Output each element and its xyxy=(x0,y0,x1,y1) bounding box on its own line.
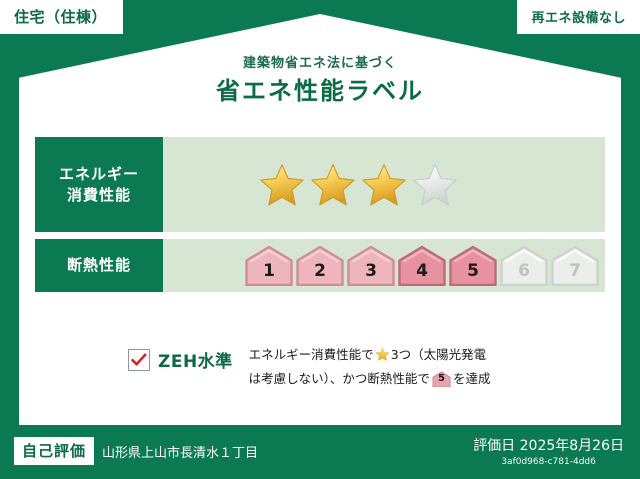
energy-performance-row: エネルギー 消費性能 xyxy=(35,137,605,232)
insulation-level-6: 6 xyxy=(500,245,548,286)
star-filled-icon xyxy=(361,162,407,208)
inline-house-number: 5 xyxy=(432,370,451,387)
house-icon xyxy=(347,245,395,286)
energy-performance-row-body xyxy=(163,137,605,232)
star-filled-icon xyxy=(259,162,305,208)
energy-label-line1: エネルギー xyxy=(59,164,139,184)
house-icon xyxy=(500,245,548,286)
insulation-performance-row-body: 1234567 xyxy=(163,239,605,292)
zeh-label: ZEH水準 xyxy=(158,347,233,372)
energy-performance-label: 住宅（住棟） 再エネ設備なし 建築物省エネ法に基づく 省エネ性能ラベル エネルギ… xyxy=(0,0,640,479)
house-icon xyxy=(449,245,497,286)
footer-left: 自己評価 山形県上山市長清水１丁目 xyxy=(14,437,258,465)
insulation-level-scale: 1234567 xyxy=(245,245,599,286)
insulation-level-5: 5 xyxy=(449,245,497,286)
building-type-tag: 住宅（住棟） xyxy=(0,0,123,34)
insulation-performance-row: 断熱性能 1234567 xyxy=(35,239,605,292)
insulation-label-line1: 断熱性能 xyxy=(67,255,131,275)
house-icon xyxy=(296,245,344,286)
insulation-level-2: 2 xyxy=(296,245,344,286)
house-icon xyxy=(245,245,293,286)
zeh-desc-line1-a: エネルギー消費性能で xyxy=(249,347,374,362)
star-rating xyxy=(259,162,458,208)
self-evaluation-badge: 自己評価 xyxy=(14,437,94,465)
star-empty-icon xyxy=(412,162,458,208)
check-icon xyxy=(131,353,147,367)
zeh-desc-line2-a: は考慮しない）、かつ断熱性能で xyxy=(249,371,430,386)
zeh-description: エネルギー消費性能で3つ（太陽光発電 は考慮しない）、かつ断熱性能で5を達成 xyxy=(249,344,491,390)
zeh-desc-line1-b: 3つ（太陽光発電 xyxy=(391,347,486,362)
inline-house-badge: 5 xyxy=(432,371,451,387)
title-subtitle: 建築物省エネ法に基づく xyxy=(0,56,640,72)
evaluation-id: 3af0d968-c781-4dd6 xyxy=(473,457,624,467)
evaluation-date: 評価日 2025年8月26日 xyxy=(473,437,624,455)
house-icon xyxy=(551,245,599,286)
energy-label-line2: 消費性能 xyxy=(67,185,131,205)
insulation-level-7: 7 xyxy=(551,245,599,286)
house-icon xyxy=(398,245,446,286)
insulation-level-3: 3 xyxy=(347,245,395,286)
page-title: 省エネ性能ラベル xyxy=(0,77,640,106)
inline-star-icon xyxy=(375,350,390,365)
insulation-level-1: 1 xyxy=(245,245,293,286)
insulation-performance-row-label: 断熱性能 xyxy=(35,239,163,292)
renewable-energy-tag: 再エネ設備なし xyxy=(517,0,640,34)
insulation-level-4: 4 xyxy=(398,245,446,286)
zeh-block: ZEH水準 エネルギー消費性能で3つ（太陽光発電 は考慮しない）、かつ断熱性能で… xyxy=(128,344,490,390)
title-block: 建築物省エネ法に基づく 省エネ性能ラベル xyxy=(0,56,640,105)
zeh-desc-line2-b: を達成 xyxy=(453,371,491,386)
star-filled-icon xyxy=(310,162,356,208)
zeh-checkbox[interactable] xyxy=(128,349,150,371)
footer-right: 評価日 2025年8月26日 3af0d968-c781-4dd6 xyxy=(473,437,624,467)
energy-performance-row-label: エネルギー 消費性能 xyxy=(35,137,163,232)
property-address: 山形県上山市長清水１丁目 xyxy=(102,442,258,461)
